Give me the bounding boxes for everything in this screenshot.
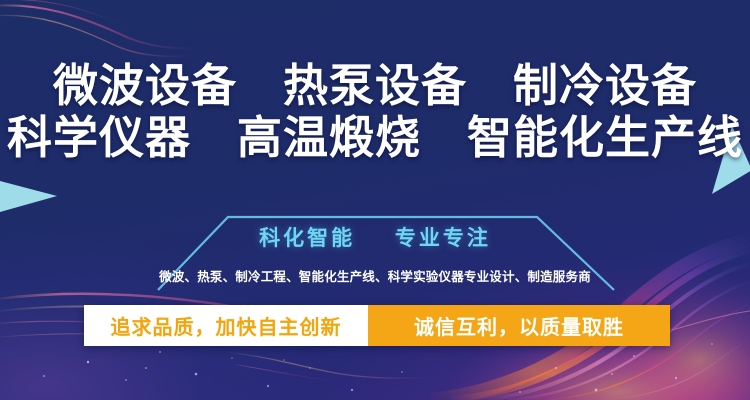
headline-line-2: 科学仪器 高温煅烧 智能化生产线	[0, 112, 750, 164]
headline-line-1: 微波设备 热泵设备 制冷设备	[0, 60, 750, 112]
subtitle-left: 科化智能	[259, 227, 355, 250]
slogan-bar-group: 追求品质，加快自主创新 诚信互利，以质量取胜	[84, 305, 670, 346]
tagline: 微波、热泵、制冷工程、智能化生产线、科学实验仪器专业设计、制造服务商	[0, 266, 750, 285]
subtitle: 科化智能 专业专注	[0, 222, 750, 252]
slogan-left: 追求品质，加快自主创新	[84, 305, 368, 346]
page-title: 微波设备 热泵设备 制冷设备 科学仪器 高温煅烧 智能化生产线	[0, 60, 750, 164]
triangle-right-arrow-icon	[0, 181, 57, 212]
promo-banner: 微波设备 热泵设备 制冷设备 科学仪器 高温煅烧 智能化生产线 科化智能 专业专…	[0, 0, 750, 400]
slogan-right: 诚信互利，以质量取胜	[368, 305, 670, 346]
subtitle-right: 专业专注	[395, 227, 491, 250]
